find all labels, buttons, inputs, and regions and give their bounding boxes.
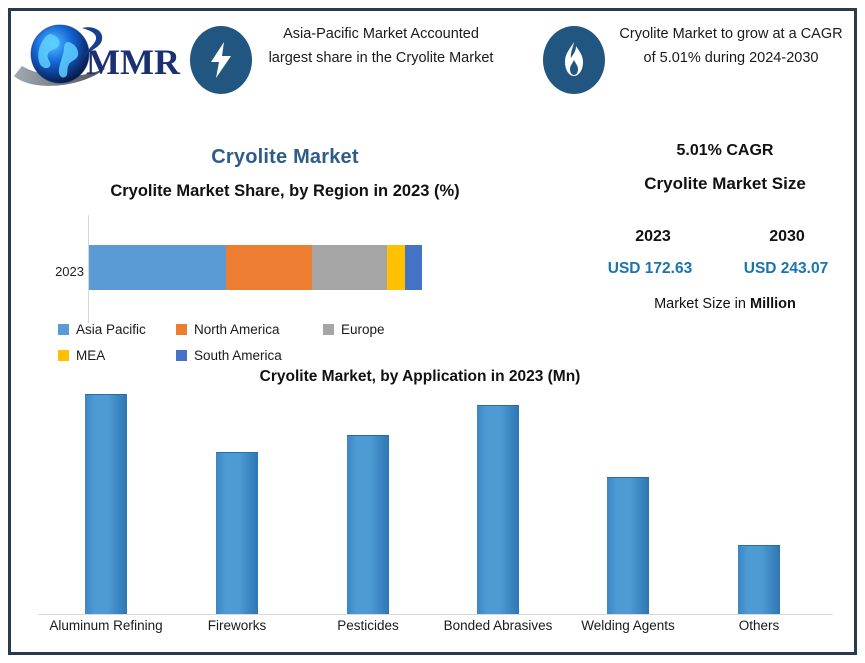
legend-swatch-mea	[58, 350, 69, 361]
legend-label-north-america: North America	[194, 322, 280, 337]
share-chart-title: Cryolite Market Share, by Region in 2023…	[20, 182, 550, 201]
application-chart-xaxis-labels: Aluminum Refining Fireworks Pesticides B…	[20, 618, 840, 644]
legend-swatch-south-america	[176, 350, 187, 361]
legend-swatch-europe	[323, 324, 334, 335]
share-segment-north-america	[226, 245, 313, 290]
application-chart-title: Cryolite Market, by Application in 2023 …	[20, 368, 820, 386]
bar-pesticides	[347, 435, 389, 614]
application-chart-baseline	[38, 614, 833, 615]
xlabel-bonded-abrasives: Bonded Abrasives	[428, 618, 568, 633]
legend-item-south-america: South America	[176, 348, 323, 363]
region-share-chart: 2023	[20, 210, 560, 325]
legend-item-asia-pacific: Asia Pacific	[58, 322, 176, 337]
legend-label-south-america: South America	[194, 348, 282, 363]
forecast-year-value: USD 243.07	[728, 260, 844, 278]
header-highlight-2-text: Cryolite Market to grow at a CAGR of 5.0…	[615, 22, 847, 70]
forecast-year-label: 2030	[732, 228, 842, 246]
region-legend: Asia Pacific North America Europe MEA So…	[58, 318, 558, 370]
infographic-root: MMR Asia-Pacific Market Accounted larges…	[0, 0, 865, 663]
legend-item-mea: MEA	[58, 348, 176, 363]
header-highlight-1-text: Asia-Pacific Market Accounted largest sh…	[262, 22, 500, 70]
legend-swatch-asia-pacific	[58, 324, 69, 335]
base-year-value: USD 172.63	[592, 260, 708, 278]
legend-item-europe: Europe	[323, 322, 433, 337]
market-size-panel: 5.01% CAGR Cryolite Market Size 2023 203…	[600, 132, 850, 322]
page-title: Cryolite Market	[20, 146, 550, 169]
bar-others	[738, 545, 780, 614]
legend-label-mea: MEA	[76, 348, 105, 363]
lightning-bolt-icon	[190, 26, 252, 94]
market-size-title: Cryolite Market Size	[600, 174, 850, 194]
header-bar: MMR Asia-Pacific Market Accounted larges…	[0, 0, 865, 112]
cagr-value: 5.01% CAGR	[600, 142, 850, 160]
share-segment-south-america	[405, 245, 422, 290]
xlabel-welding-agents: Welding Agents	[558, 618, 698, 633]
legend-label-asia-pacific: Asia Pacific	[76, 322, 146, 337]
market-size-unit-prefix: Market Size in	[654, 296, 750, 312]
mmr-logo: MMR	[10, 18, 190, 98]
flame-icon	[543, 26, 605, 94]
bar-fireworks	[216, 452, 258, 614]
legend-swatch-north-america	[176, 324, 187, 335]
share-segment-mea	[387, 245, 405, 290]
market-size-unit: Market Size in Million	[600, 296, 850, 312]
share-stacked-bar	[89, 245, 422, 290]
legend-row-2: MEA South America	[58, 344, 558, 366]
xlabel-pesticides: Pesticides	[298, 618, 438, 633]
application-chart: Cryolite Market, by Application in 2023 …	[20, 366, 845, 651]
bar-aluminum-refining	[85, 394, 127, 614]
share-chart-category-label: 2023	[40, 264, 84, 279]
share-segment-asia-pacific	[89, 245, 226, 290]
application-chart-plot	[20, 390, 840, 615]
bar-welding-agents	[607, 477, 649, 614]
legend-item-north-america: North America	[176, 322, 323, 337]
legend-label-europe: Europe	[341, 322, 385, 337]
logo-text: MMR	[86, 42, 181, 82]
xlabel-aluminum-refining: Aluminum Refining	[36, 618, 176, 633]
legend-row-1: Asia Pacific North America Europe	[58, 318, 558, 340]
xlabel-others: Others	[689, 618, 829, 633]
share-segment-europe	[312, 245, 387, 290]
base-year-label: 2023	[598, 228, 708, 246]
market-size-unit-bold: Million	[750, 296, 796, 312]
bar-bonded-abrasives	[477, 405, 519, 614]
xlabel-fireworks: Fireworks	[167, 618, 307, 633]
